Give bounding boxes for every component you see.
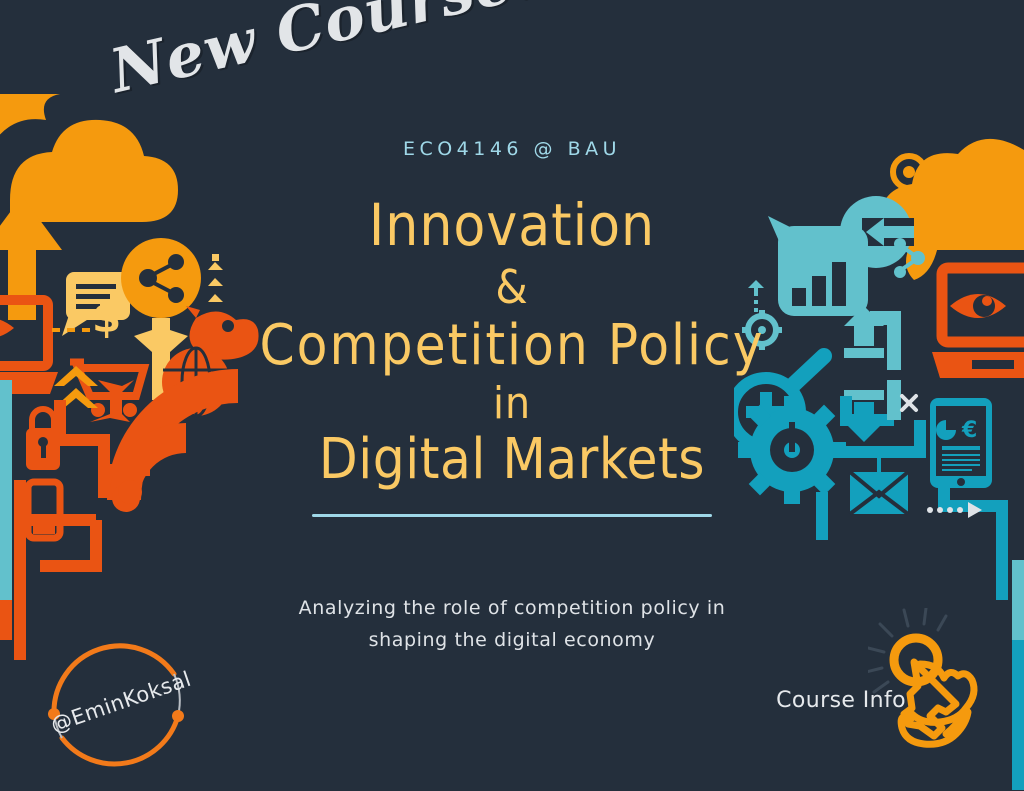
subtitle-line-1: Analyzing the role of competition policy…: [210, 592, 814, 624]
title-line-ampersand: &: [230, 264, 794, 310]
target-dot-icon: [893, 156, 925, 188]
edge-accent-bar-left-orange: [0, 600, 12, 640]
title-divider: [312, 514, 712, 517]
power-button-icon: [840, 196, 914, 268]
laptop-eye-icon: [932, 268, 1024, 378]
title-line-competition-policy: Competition Policy: [230, 318, 794, 374]
dollar-sign-icon: $: [92, 293, 121, 342]
title-line-in: in: [230, 382, 794, 426]
page-title: Innovation & Competition Policy in Digit…: [230, 196, 794, 517]
close-x-icon: [902, 396, 916, 410]
subtitle: Analyzing the role of competition policy…: [210, 592, 814, 657]
share-node-icon: [121, 238, 201, 400]
title-line-innovation: Innovation: [230, 196, 794, 254]
course-code-label: ECO4146 @ BAU: [0, 138, 1024, 160]
subtitle-line-2: shaping the digital economy: [210, 624, 814, 656]
edge-accent-bar-right-cyan: [1012, 640, 1024, 790]
globe-grid-icon: [162, 348, 230, 416]
node-dot-icon: [118, 480, 142, 504]
cloud-upload-icon: [0, 94, 178, 320]
new-course-badge: New Course!: [105, 0, 489, 104]
cloud-icon: [882, 139, 1024, 280]
course-poster: $: [0, 0, 1024, 791]
upload-download-icon: [844, 306, 884, 442]
envelope-icon: [850, 448, 908, 514]
svg-text:€: €: [961, 418, 977, 443]
pipe-network-icon: [822, 396, 1002, 600]
play-arrow-icon: [927, 502, 982, 518]
share-node-icon: [894, 238, 925, 278]
pointer-hand-click-icon[interactable]: [868, 608, 998, 758]
title-line-digital-markets: Digital Markets: [230, 432, 794, 488]
shopping-cart-icon: [70, 362, 144, 417]
social-handle-badge[interactable]: @EminKoksal: [28, 612, 204, 788]
wifi-signal-icon: [112, 386, 238, 512]
pipe-network-icon: [870, 318, 894, 420]
smartphone-icon: [28, 482, 60, 538]
lock-icon: [26, 409, 60, 470]
svg-text:$: $: [92, 293, 121, 342]
chat-bubble-icon: [62, 272, 130, 336]
chevron-up-icon: [54, 366, 98, 408]
edge-accent-bar-left-teal: [0, 380, 12, 620]
tablet-report-icon: €: [930, 398, 992, 488]
edge-accent-bar-right-teal: [1012, 560, 1024, 650]
euro-pie-icon: €: [936, 418, 977, 443]
airplane-icon: [90, 380, 134, 422]
dot-connector-icon: [52, 254, 223, 330]
